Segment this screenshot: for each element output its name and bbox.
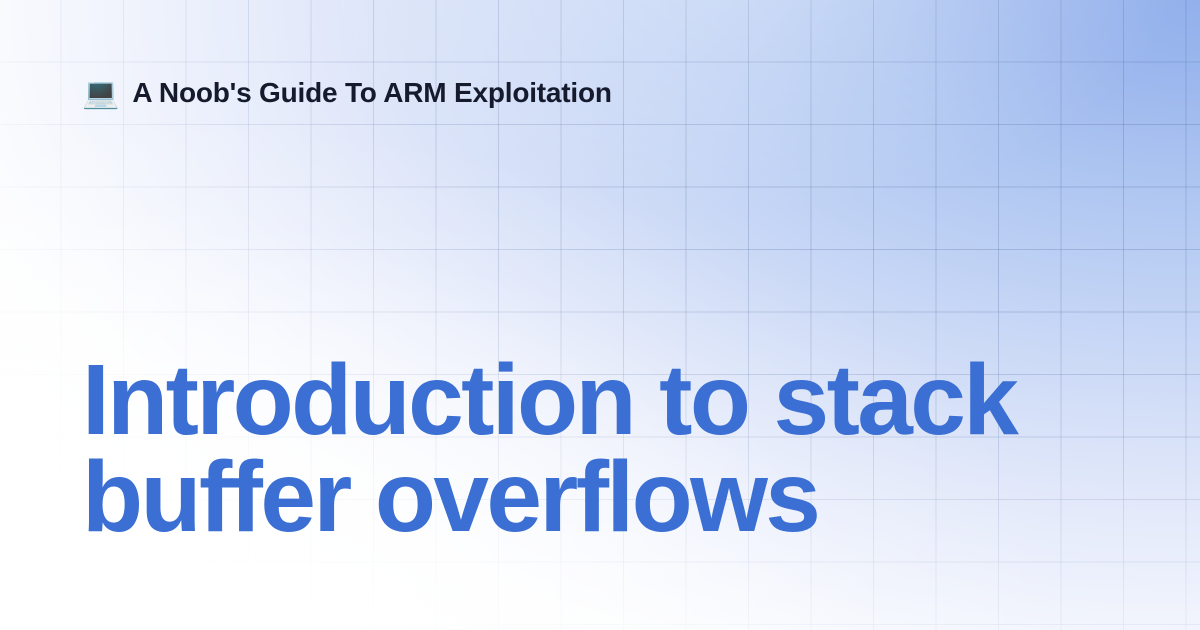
social-card: 💻 A Noob's Guide To ARM Exploitation Int… [0, 0, 1200, 630]
card-content: 💻 A Noob's Guide To ARM Exploitation Int… [0, 0, 1200, 630]
laptop-icon: 💻 [82, 79, 119, 109]
page-title: Introduction to stack buffer overflows [82, 352, 1092, 546]
site-title: A Noob's Guide To ARM Exploitation [132, 78, 611, 109]
page-title-line-1: Introduction to stack [82, 352, 1092, 449]
page-title-line-2: buffer overflows [82, 449, 1092, 546]
site-header: 💻 A Noob's Guide To ARM Exploitation [82, 78, 612, 109]
